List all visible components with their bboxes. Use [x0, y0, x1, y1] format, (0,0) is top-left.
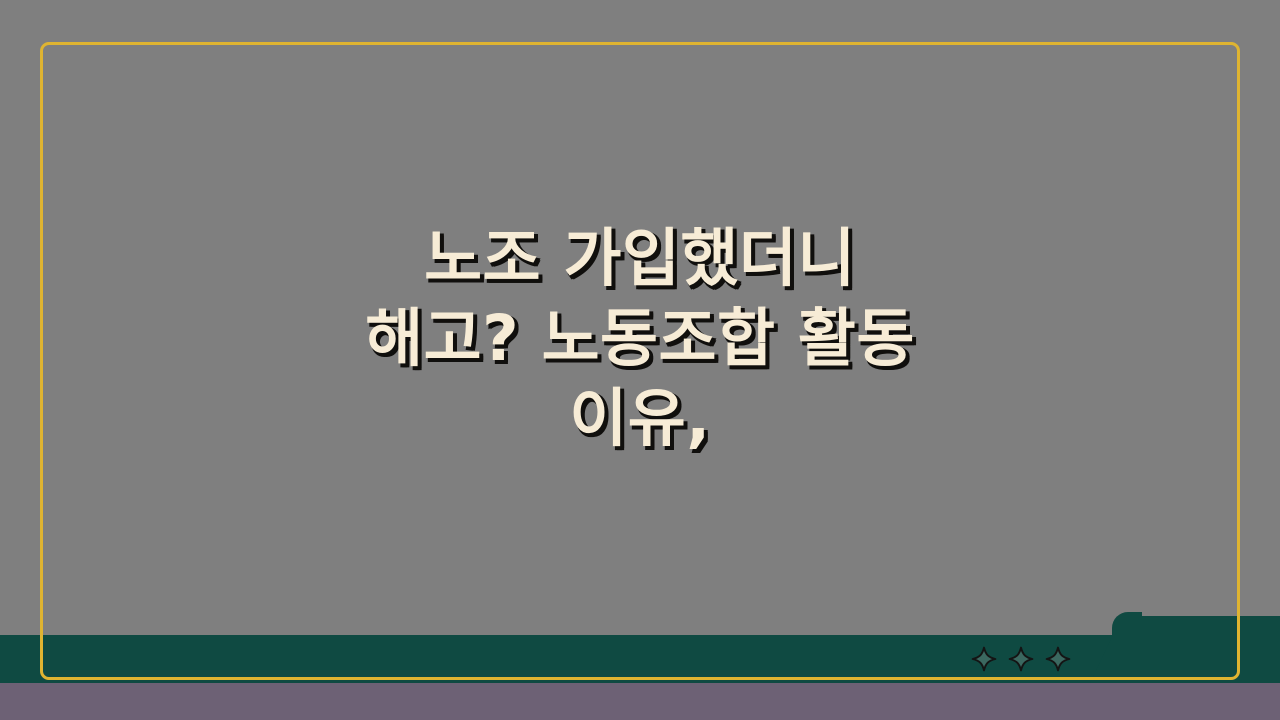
sparkle-icon	[1044, 645, 1072, 673]
sparkle-icon	[1007, 645, 1035, 673]
footer-strip	[0, 683, 1280, 720]
sparkle-group	[970, 643, 1080, 675]
page-title: 노조 가입했더니 해고? 노동조합 활동 이유,	[340, 219, 940, 459]
accent-band	[0, 635, 1280, 683]
title-area: 노조 가입했더니 해고? 노동조합 활동 이유,	[40, 42, 1240, 635]
slide-canvas: 노조 가입했더니 해고? 노동조합 활동 이유,	[0, 0, 1280, 720]
sparkle-icon	[970, 645, 998, 673]
